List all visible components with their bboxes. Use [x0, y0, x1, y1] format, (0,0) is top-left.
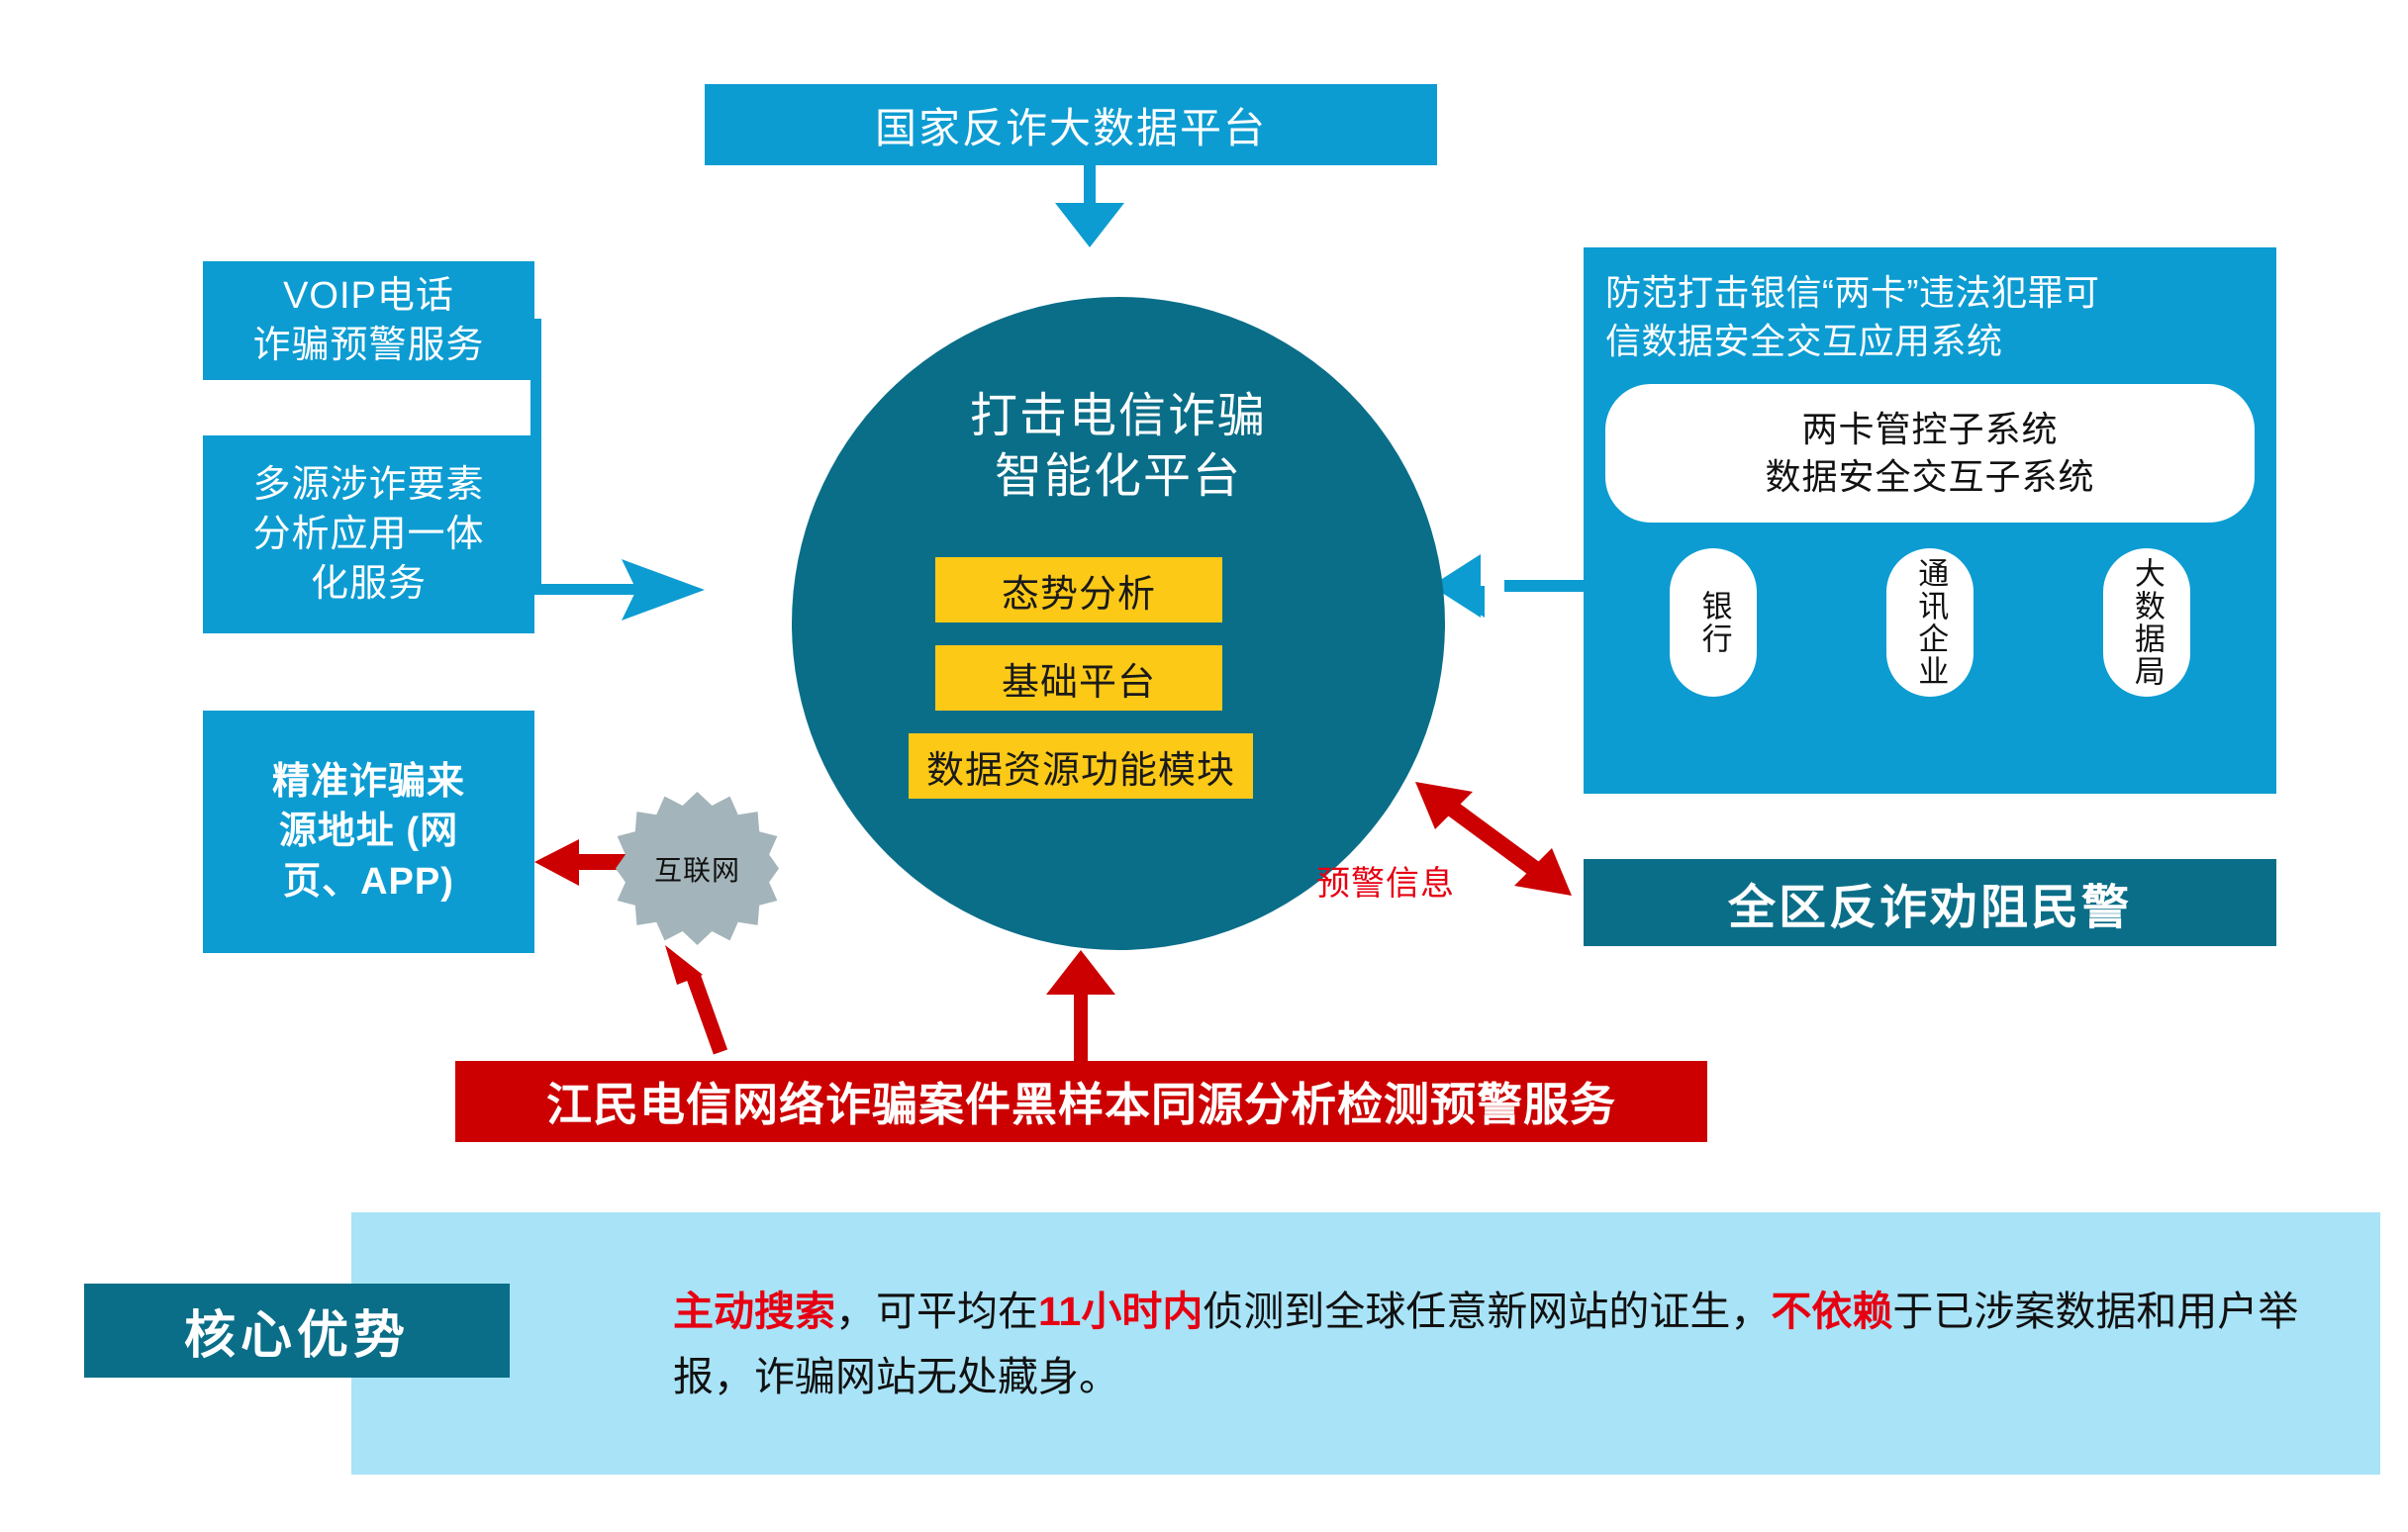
subsystem-group: 两卡管控子系统 数据安全交互子系统 [1605, 384, 2255, 523]
arrow-left-to-center [530, 319, 705, 621]
subsystem-data-security-exchange: 数据安全交互子系统 [1765, 453, 2094, 501]
two-card-system-panel: 防范打击银信“两卡”违法犯罪可 信数据安全交互应用系统 两卡管控子系统 数据安全… [1584, 247, 2276, 794]
org-label: 通讯企业 [1914, 557, 1947, 688]
service-box-voip: VOIP电话 诈骗预警服务 [203, 261, 534, 380]
arrow-right-to-center [1431, 554, 1586, 618]
body-text: 侦测到全球任意新网站的证生， [1203, 1289, 1771, 1334]
highlight-text: 11小时内 [1038, 1289, 1203, 1334]
jiangmin-service-banner: 江民电信网络诈骗案件黑样本同源分析检测预警服务 [455, 1061, 1707, 1142]
district-police-bar: 全区反诈劝阻民警 [1584, 859, 2276, 946]
service-box-fraud-source-address: 精准诈骗来 源地址 (网 页、APP) [203, 711, 534, 953]
highlight-text: 主动搜索 [673, 1289, 835, 1334]
arrow-internet-to-source [534, 839, 631, 886]
module-base-platform: 基础平台 [935, 645, 1222, 711]
service-box-multisource: 多源涉诈要素 分析应用一体 化服务 [203, 435, 534, 633]
org-pill-bank: 银行 [1670, 548, 1757, 697]
module-situation-analysis: 态势分析 [935, 557, 1222, 622]
core-advantage-label: 核心优势 [84, 1284, 510, 1378]
organization-group: 银行 通讯企业 大数据局 [1605, 548, 2255, 697]
module-data-resource: 数据资源功能模块 [909, 733, 1253, 799]
org-pill-telecom: 通讯企业 [1886, 548, 1974, 697]
central-platform-circle: 打击电信诈骗 智能化平台 态势分析 基础平台 数据资源功能模块 [792, 297, 1445, 950]
arrow-banner-to-internet [665, 945, 721, 1052]
central-platform-title: 打击电信诈骗 智能化平台 [970, 386, 1267, 508]
body-text: ，可平均在 [835, 1289, 1038, 1334]
org-label: 银行 [1697, 590, 1730, 655]
two-card-system-title: 防范打击银信“两卡”违法犯罪可 信数据安全交互应用系统 [1605, 269, 2255, 366]
warning-info-label: 预警信息 [1316, 856, 1455, 905]
subsystem-two-card-control: 两卡管控子系统 [1801, 406, 2058, 453]
arrow-banner-to-center [1046, 950, 1115, 1061]
org-label: 大数据局 [2130, 557, 2163, 688]
org-pill-big-data-bureau: 大数据局 [2103, 548, 2190, 697]
arrow-top-to-center [1055, 165, 1124, 247]
national-platform-bar: 国家反诈大数据平台 [705, 84, 1437, 165]
core-advantage-text: 主动搜索，可平均在11小时内侦测到全球任意新网站的证生，不依赖于已涉案数据和用户… [673, 1280, 2346, 1409]
internet-starburst: 互联网 [616, 792, 779, 945]
highlight-text: 不依赖 [1771, 1289, 1892, 1334]
